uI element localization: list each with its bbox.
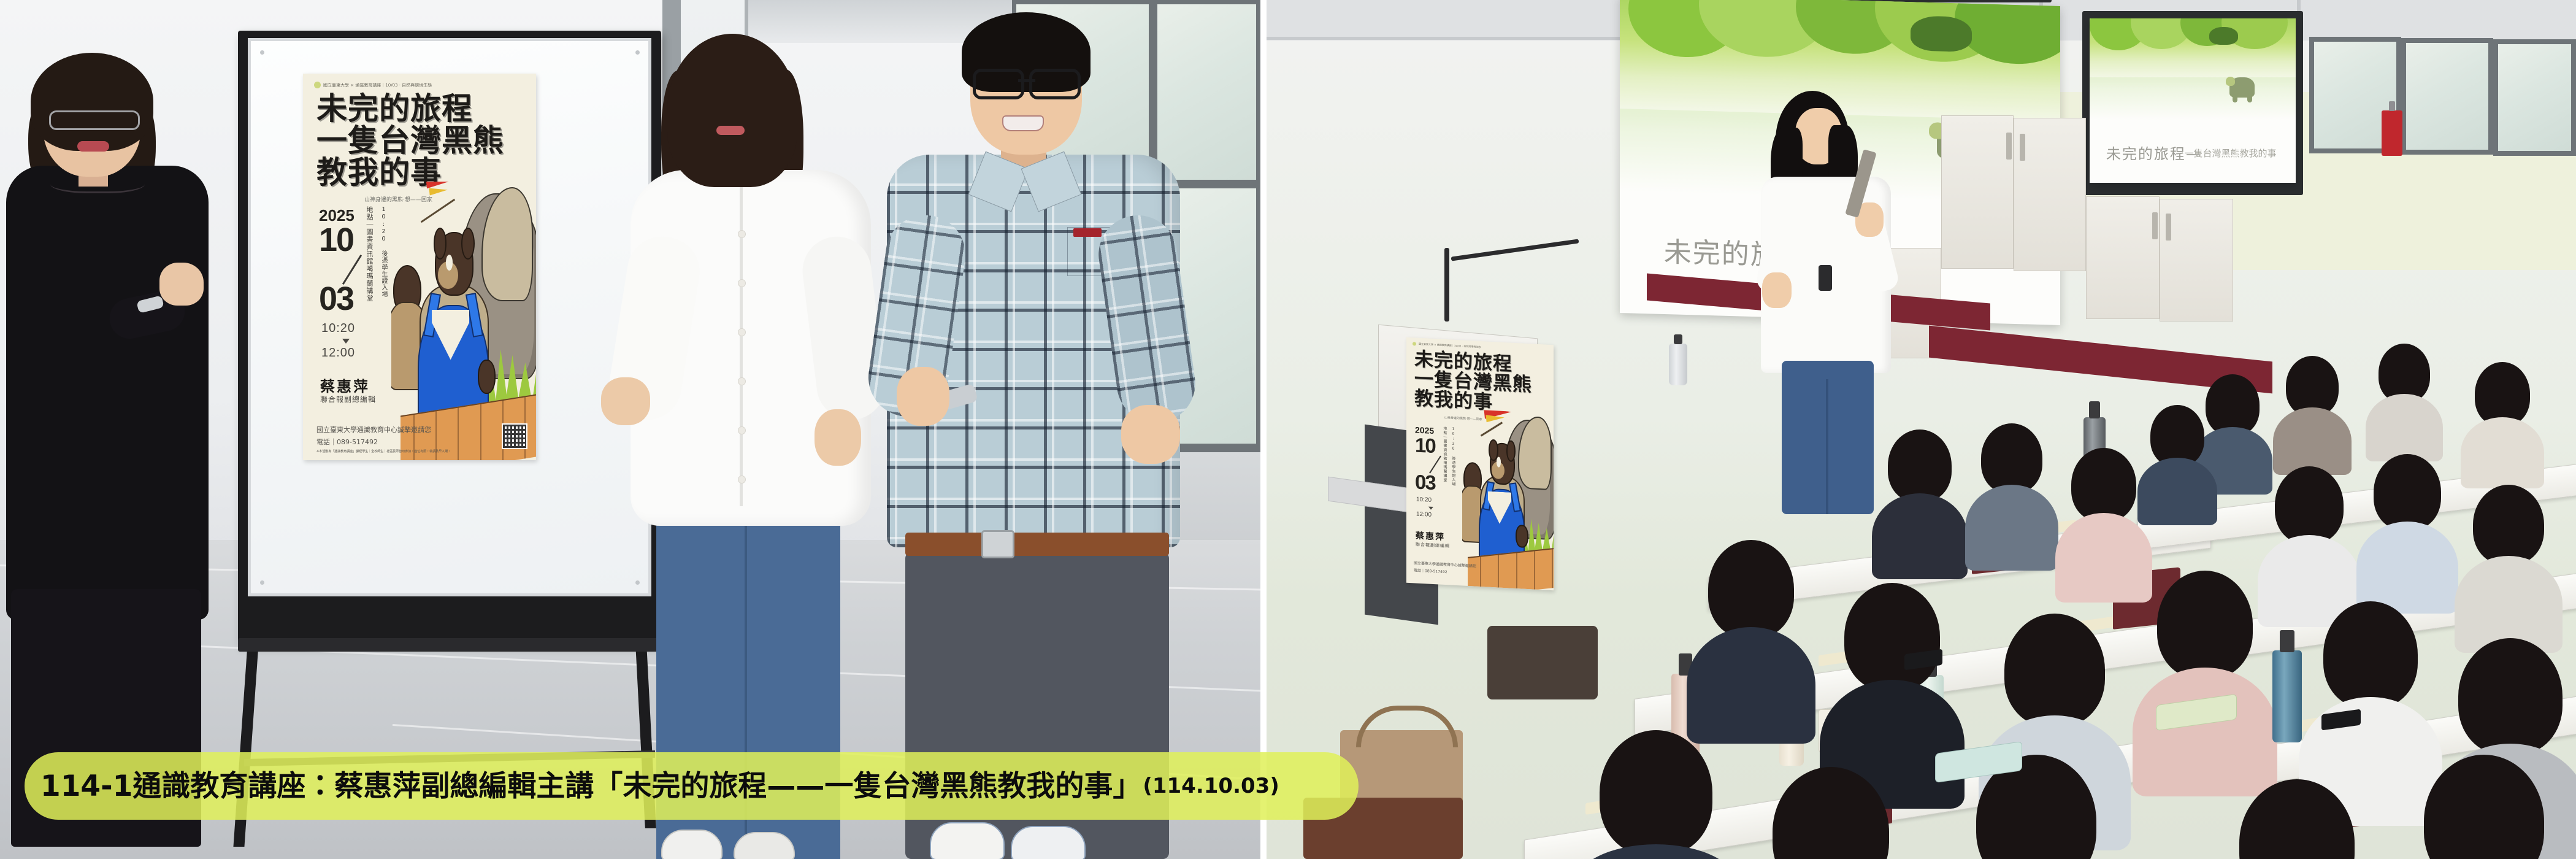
right-photo-lecture-hall: 未完的旅程— 一隻台灣黑熊教我的事 未完的旅程— 一隻台灣黑熊教我的事: [1267, 0, 2576, 859]
tumbler: [1669, 344, 1687, 385]
poster-speaker-name: 蔡惠萍: [320, 374, 370, 396]
attendee: [2266, 466, 2352, 614]
attendee: [1880, 429, 1960, 564]
podium-title-line3: 教我的事: [1414, 389, 1493, 412]
mouth: [77, 141, 109, 152]
screenshot-root: NTTU Library and Information C108 噶瑪蘭講堂 …: [0, 0, 2576, 859]
poster-title-line2: 一隻台灣黑熊: [316, 125, 504, 156]
laptop-bag: [1487, 626, 1598, 699]
mist-gradient: [2090, 77, 2296, 120]
eyeglasses: [49, 110, 140, 130]
fire-extinguisher: [2382, 110, 2402, 156]
left-photo-group-shot: NTTU Library and Information C108 噶瑪蘭講堂 …: [0, 0, 1260, 859]
attendee: [1757, 767, 1904, 859]
poster-time-end: 12:00: [321, 346, 355, 360]
yellow-flag: [429, 187, 448, 196]
attendee: [1585, 730, 1727, 859]
person-woman-in-black: [6, 49, 209, 859]
attendee: [1972, 423, 2052, 558]
podium-month: 10: [1415, 433, 1435, 458]
speaker-hand: [1762, 272, 1792, 308]
hand: [815, 409, 861, 466]
attendee: [2279, 356, 2346, 460]
attendee: [2407, 755, 2561, 859]
mic-stand-pole: [1444, 248, 1449, 322]
poster-footer-phone: 電話｜089-517492: [316, 437, 378, 447]
poster-entry-note: 10:20 後憑學生證入場: [379, 206, 388, 298]
poster-footer-invite: 國立臺東大學通識教育中心誠摯邀請您: [316, 425, 431, 434]
pointing-hand: [601, 377, 650, 425]
poster-footer-fine-print: ※本活動為「通識教育講座」課程學生｜全校師生｜社區民眾皆可參加，座位有限，敬請及…: [316, 449, 451, 453]
hair: [667, 34, 797, 187]
attendee: [2463, 485, 2555, 638]
mouth: [1002, 115, 1044, 131]
leather-belt: [905, 533, 1169, 556]
eyeglasses: [973, 69, 1081, 93]
bear-silhouette: [2229, 77, 2254, 97]
attendee: [2223, 779, 2371, 859]
shoe: [661, 830, 723, 859]
poster-time-start: 10:20: [321, 322, 355, 336]
caption-text-date: (114.10.03): [1143, 776, 1279, 796]
podium-event-banner: 國立臺東大學 × 通識教育講座｜10/03 · 自然與環境生態 未完的旅程 一隻…: [1406, 337, 1554, 591]
side-monitor-screen: 未完的旅程— 一隻台灣黑熊教我的事: [2090, 18, 2296, 183]
shoe: [734, 832, 795, 859]
poster-venue: 地點｜圖書資訊館噶瑪蘭講堂: [364, 206, 374, 317]
attendee: [2469, 362, 2536, 472]
time-range-arrow-icon: [342, 339, 350, 344]
finger-heart-gesture: [159, 263, 204, 306]
caption-text-main: 114-1通識教育講座：蔡惠萍副總編輯主講「未完的旅程——一隻台灣黑熊教我的事」: [40, 772, 1141, 801]
attendee: [2144, 571, 2266, 773]
poster-day: 03: [319, 280, 353, 318]
qr-code-icon: [502, 423, 527, 449]
speaker-presenting: [1757, 91, 1898, 441]
side-screen-subtitle: 一隻台灣黑熊教我的事: [2185, 147, 2277, 160]
attendee: [2364, 454, 2450, 601]
shirt-brand-tag: [1073, 228, 1102, 237]
water-bottle: [2272, 650, 2302, 742]
finger-heart-gesture: [897, 367, 949, 426]
person-man-in-plaid-shirt: [883, 12, 1184, 859]
poster-speaker-role: 聯合報副總編輯: [320, 394, 376, 404]
attendee: [2371, 344, 2438, 448]
hand: [1121, 405, 1180, 464]
poster-org-line: 國立臺東大學 × 通識教育講座｜10/03 · 自然與環境生態: [323, 82, 432, 88]
event-poster: 國立臺東大學 × 通識教育講座｜10/03 · 自然與環境生態 未完的旅程 一隻…: [303, 74, 536, 460]
caption-banner: 114-1通識教育講座：蔡惠萍副總編輯主講「未完的旅程——一隻台灣黑熊教我的事」…: [25, 752, 1359, 820]
mouth: [716, 126, 745, 135]
podium-day: 03: [1415, 470, 1435, 495]
hair: [31, 53, 153, 151]
photo-divider: [1260, 0, 1267, 859]
person-woman-in-white-shirt: [619, 34, 877, 859]
flag-pole: [421, 199, 455, 223]
poster-month: 10: [319, 221, 353, 259]
sneaker: [930, 822, 1005, 859]
attendee: [2064, 448, 2144, 589]
black-dress-top: [6, 166, 209, 620]
podium-speaker-name: 蔡惠萍: [1416, 529, 1445, 543]
clicker-remote: [1819, 265, 1832, 291]
whiteboard-marker-tray: [238, 638, 661, 652]
attendee: [2144, 405, 2211, 509]
sneaker: [1011, 826, 1086, 859]
poster-illustration: [391, 182, 536, 460]
poster-org-dot: [314, 82, 321, 88]
poster-title-line1: 未完的旅程: [316, 93, 473, 125]
belt-buckle: [981, 530, 1014, 558]
attendee: [1696, 540, 1806, 724]
